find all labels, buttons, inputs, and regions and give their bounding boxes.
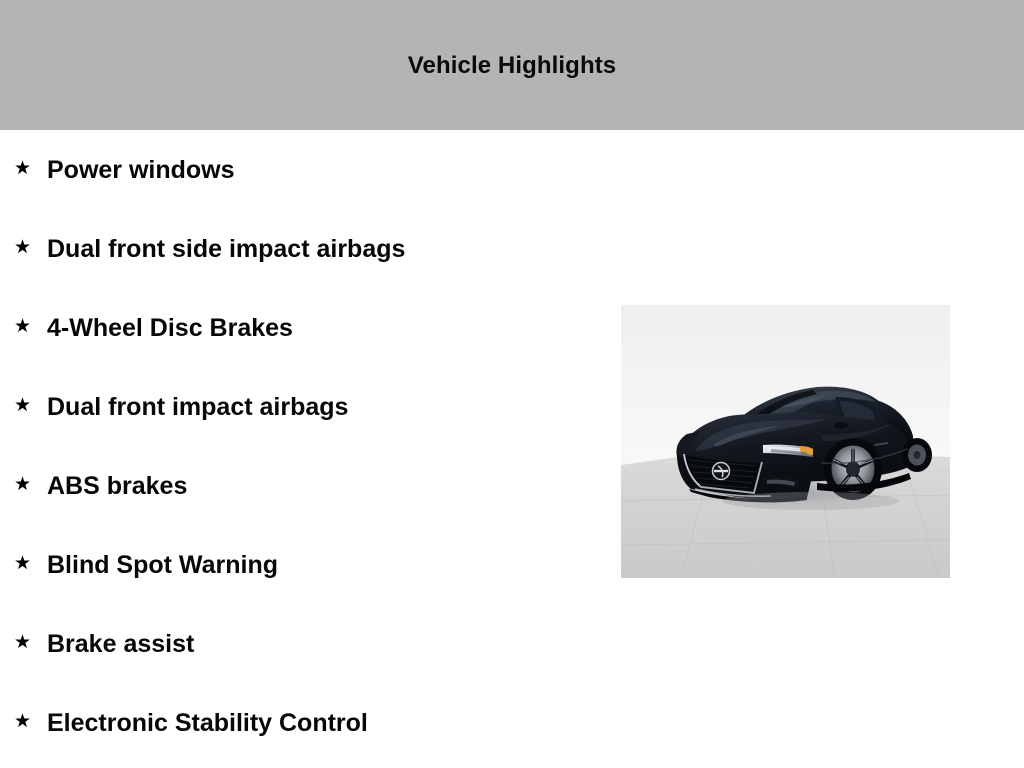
star-icon: ★ <box>14 159 32 178</box>
star-icon: ★ <box>14 554 32 573</box>
star-icon: ★ <box>14 238 32 257</box>
page-title: Vehicle Highlights <box>0 52 1024 80</box>
list-item-label: 4-Wheel Disc Brakes <box>47 314 620 342</box>
list-item-label: ABS brakes <box>47 472 620 500</box>
list-item-label: Power windows <box>47 156 620 184</box>
star-icon: ★ <box>14 317 32 336</box>
list-item-label: Brake assist <box>47 630 620 658</box>
list-item: ★ Power windows <box>0 130 620 209</box>
vehicle-photo <box>621 305 950 578</box>
list-item: ★ Dual front impact airbags <box>0 367 620 446</box>
list-item: ★ Dual front side impact airbags <box>0 209 620 288</box>
list-item: ★ Blind Spot Warning <box>0 525 620 604</box>
header-band: Vehicle Highlights <box>0 0 1024 130</box>
list-item-label: Blind Spot Warning <box>47 551 620 579</box>
list-item-label: Electronic Stability Control <box>47 709 620 737</box>
list-item: ★ Electronic Stability Control <box>0 683 620 762</box>
vehicle-highlights-list: ★ Power windows ★ Dual front side impact… <box>0 130 620 762</box>
list-item-label: Dual front impact airbags <box>47 393 620 421</box>
star-icon: ★ <box>14 475 32 494</box>
star-icon: ★ <box>14 712 32 731</box>
star-icon: ★ <box>14 396 32 415</box>
rear-wheel <box>902 438 932 472</box>
list-item: ★ ABS brakes <box>0 446 620 525</box>
list-item: ★ 4-Wheel Disc Brakes <box>0 288 620 367</box>
list-item: ★ Brake assist <box>0 604 620 683</box>
vehicle-photo-image <box>621 305 950 578</box>
list-item-label: Dual front side impact airbags <box>47 235 620 263</box>
star-icon: ★ <box>14 633 32 652</box>
